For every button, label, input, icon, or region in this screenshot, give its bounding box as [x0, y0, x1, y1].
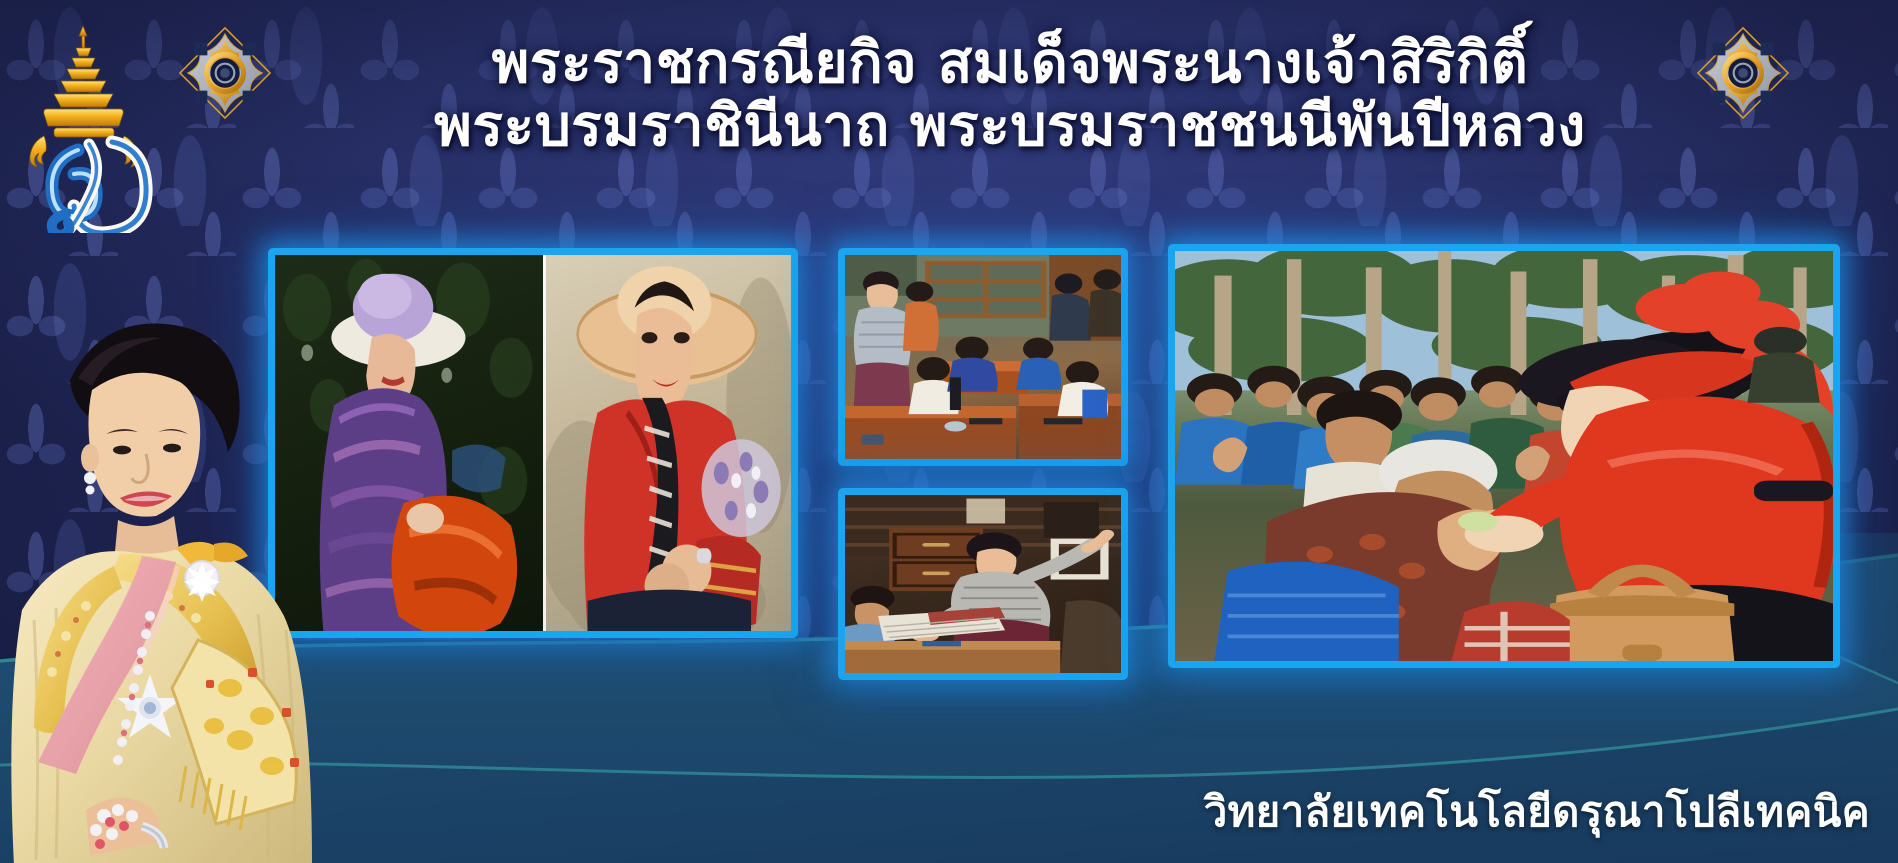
thai-diamond-ornament-right: [1694, 24, 1792, 122]
photo-mid-bottom: [838, 488, 1128, 680]
photo-right-large: [1168, 244, 1840, 668]
thai-diamond-ornament-left: [176, 24, 274, 122]
photo-mid-top: [838, 248, 1128, 466]
royal-banner: พระราชกรณียกิจ สมเด็จพระนางเจ้าสิริกิติ์…: [0, 0, 1898, 863]
queen-sirikit-portrait: [0, 210, 360, 863]
